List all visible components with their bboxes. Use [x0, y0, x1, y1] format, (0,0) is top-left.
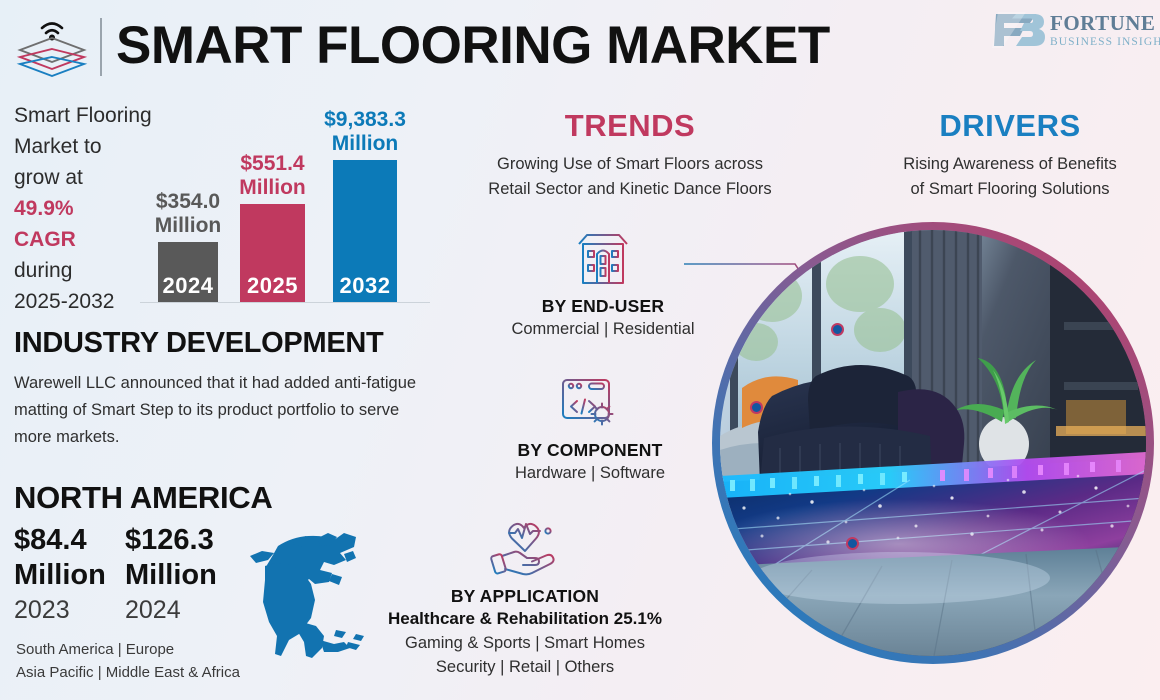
segment-component-sub: Hardware | Software — [455, 461, 725, 485]
building-icon — [468, 228, 738, 290]
cagr-line-1: Smart Flooring — [14, 104, 152, 127]
na-value-0: $84.4 — [14, 523, 129, 558]
segment-component-title: BY COMPONENT — [455, 440, 725, 461]
code-window-gear-icon — [455, 372, 725, 434]
svg-text:BUSINESS INSIGHTS: BUSINESS INSIGHTS — [1050, 36, 1160, 48]
bar-value-1-unit: Million — [239, 176, 306, 199]
industry-development-body: Warewell LLC announced that it had added… — [14, 370, 434, 451]
heart-pulse-hand-icon — [360, 518, 690, 580]
bar-value-2-amount: $9,383.3 — [324, 108, 406, 131]
regions-line-1: South America | Europe — [16, 638, 240, 661]
drivers-line-2: of Smart Flooring Solutions — [865, 177, 1155, 202]
segment-end-user-sub: Commercial | Residential — [468, 317, 738, 341]
segment-component: BY COMPONENT Hardware | Software — [455, 372, 725, 485]
bar-value-1-amount: $551.4 — [240, 152, 304, 175]
bar-value-label-1: $551.4 Million — [213, 152, 333, 200]
market-size-bar-chart: 2024 $354.0 Million 2025 $551.4 Million … — [140, 100, 430, 312]
cagr-line-2: Market to — [14, 135, 102, 158]
bar-year-label-0: 2024 — [158, 273, 218, 299]
trends-body: Growing Use of Smart Floors across Retai… — [460, 152, 800, 202]
smart-flooring-photo — [712, 222, 1154, 664]
infographic-root: SMART FLOORING MARKET FORTUNE BUSINESS I… — [0, 0, 1160, 700]
living-room-illustration — [720, 230, 1146, 656]
segment-application: BY APPLICATION Healthcare & Rehabilitati… — [360, 518, 690, 679]
bar-2025: 2025 — [240, 204, 305, 302]
drivers-body: Rising Awareness of Benefits of Smart Fl… — [865, 152, 1155, 202]
cagr-period: 2025-2032 — [14, 290, 114, 313]
bar-year-label-1: 2025 — [240, 273, 305, 299]
svg-text:FORTUNE: FORTUNE — [1050, 11, 1155, 35]
trends-line-2: Retail Sector and Kinetic Dance Floors — [460, 177, 800, 202]
bar-value-2-unit: Million — [332, 132, 399, 155]
segment-application-sub-3: Security | Retail | Others — [360, 655, 690, 679]
segment-end-user-title: BY END-USER — [468, 296, 738, 317]
trends-line-1: Growing Use of Smart Floors across — [460, 152, 800, 177]
cagr-line-4: during — [14, 259, 72, 282]
page-title: SMART FLOORING MARKET — [116, 14, 830, 78]
cagr-percent: 49.9% — [14, 197, 74, 220]
bar-2024: 2024 — [158, 242, 218, 302]
photo-inner — [720, 230, 1146, 656]
fbi-logo-icon: FORTUNE BUSINESS INSIGHTS — [990, 8, 1150, 52]
photo-callout-dot-2 — [750, 401, 763, 414]
bar-value-label-2: $9,383.3 Million — [305, 108, 425, 156]
trends-heading: TRENDS — [470, 108, 790, 144]
bar-value-0-unit: Million — [155, 214, 222, 237]
photo-callout-dot-1 — [831, 323, 844, 336]
segment-application-sub-1: Healthcare & Rehabilitation 25.1% — [360, 607, 690, 631]
bar-year-label-2: 2032 — [333, 273, 397, 299]
other-regions-list: South America | Europe Asia Pacific | Mi… — [16, 638, 240, 684]
na-stat-2023: $84.4 Million 2023 — [14, 523, 129, 627]
drivers-heading: DRIVERS — [860, 108, 1160, 144]
stacked-layers-signal-icon — [12, 16, 92, 78]
na-unit-0: Million — [14, 558, 129, 593]
drivers-line-1: Rising Awareness of Benefits — [865, 152, 1155, 177]
industry-development-title: INDUSTRY DEVELOPMENT — [14, 327, 383, 360]
bar-2032: 2032 — [333, 160, 397, 302]
segment-end-user: BY END-USER Commercial | Residential — [468, 228, 738, 341]
regions-line-2: Asia Pacific | Middle East & Africa — [16, 661, 240, 684]
cagr-label: CAGR — [14, 228, 76, 251]
photo-callout-dot-3 — [846, 537, 859, 550]
north-america-map-icon — [232, 518, 377, 673]
na-year-0: 2023 — [14, 593, 129, 627]
segment-application-title: BY APPLICATION — [360, 586, 690, 607]
chart-baseline — [140, 302, 430, 303]
north-america-title: NORTH AMERICA — [14, 480, 272, 516]
bar-value-0-amount: $354.0 — [156, 190, 220, 213]
cagr-line-3: grow at — [14, 166, 83, 189]
segment-application-sub-2: Gaming & Sports | Smart Homes — [360, 631, 690, 655]
header-divider — [100, 18, 102, 76]
